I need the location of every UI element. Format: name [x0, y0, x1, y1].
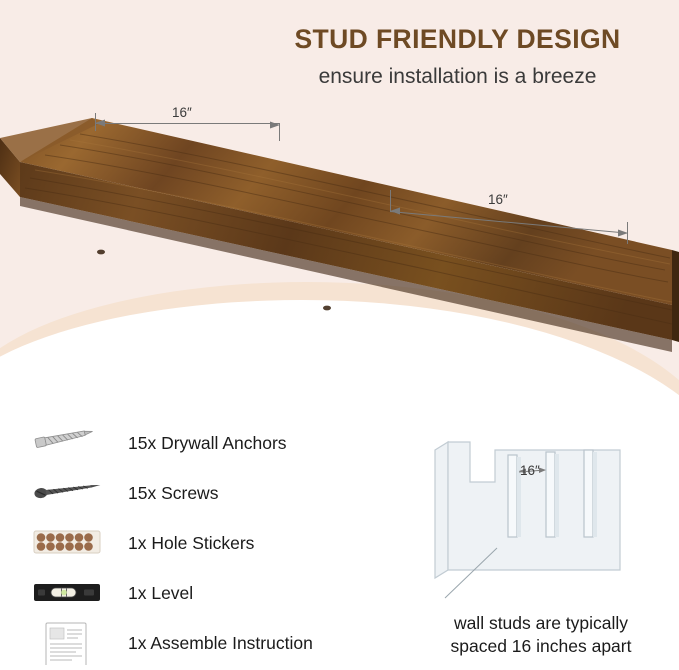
instruction-sheet-icon	[20, 621, 128, 665]
arrow-left-icon	[390, 206, 404, 216]
dimension-top-left: 16″	[95, 113, 280, 139]
stud-caption-line-1: wall studs are typically	[416, 612, 666, 635]
screw-icon	[20, 471, 128, 515]
headline-title: STUD FRIENDLY DESIGN	[250, 24, 665, 54]
list-item: 1x Assemble Instruction	[20, 618, 410, 668]
stud-wall-illustration	[415, 420, 665, 620]
list-item-label: 1x Level	[128, 583, 193, 604]
stud-spacing-label: 16″	[520, 463, 540, 478]
list-item-label: 15x Drywall Anchors	[128, 433, 287, 454]
stud-caption-line-2: spaced 16 inches apart	[416, 635, 666, 658]
list-item-label: 1x Assemble Instruction	[128, 633, 313, 654]
list-item: 15x Drywall Anchors	[20, 418, 410, 468]
list-item: 1x Hole Stickers	[20, 518, 410, 568]
dimension-front-right: 16″	[390, 190, 630, 260]
headline-block: STUD FRIENDLY DESIGN ensure installation…	[250, 24, 665, 89]
dimension-front-right-label: 16″	[483, 192, 513, 207]
arrow-left-icon	[95, 118, 109, 128]
list-item-label: 15x Screws	[128, 483, 218, 504]
arrow-right-icon	[267, 120, 281, 130]
level-icon	[20, 571, 128, 615]
list-item: 1x Level	[20, 568, 410, 618]
product-infographic: STUD FRIENDLY DESIGN ensure installation…	[0, 0, 679, 670]
parts-list: 15x Drywall Anchors	[20, 418, 410, 668]
drywall-anchor-icon	[20, 421, 128, 465]
dimension-top-left-label: 16″	[167, 105, 197, 120]
list-item-label: 1x Hole Stickers	[128, 533, 254, 554]
headline-subtitle: ensure installation is a breeze	[250, 65, 665, 89]
stud-diagram-caption: wall studs are typically spaced 16 inche…	[416, 612, 666, 658]
hole-stickers-icon	[20, 521, 128, 565]
list-item: 15x Screws	[20, 468, 410, 518]
arrow-right-icon	[615, 228, 629, 238]
